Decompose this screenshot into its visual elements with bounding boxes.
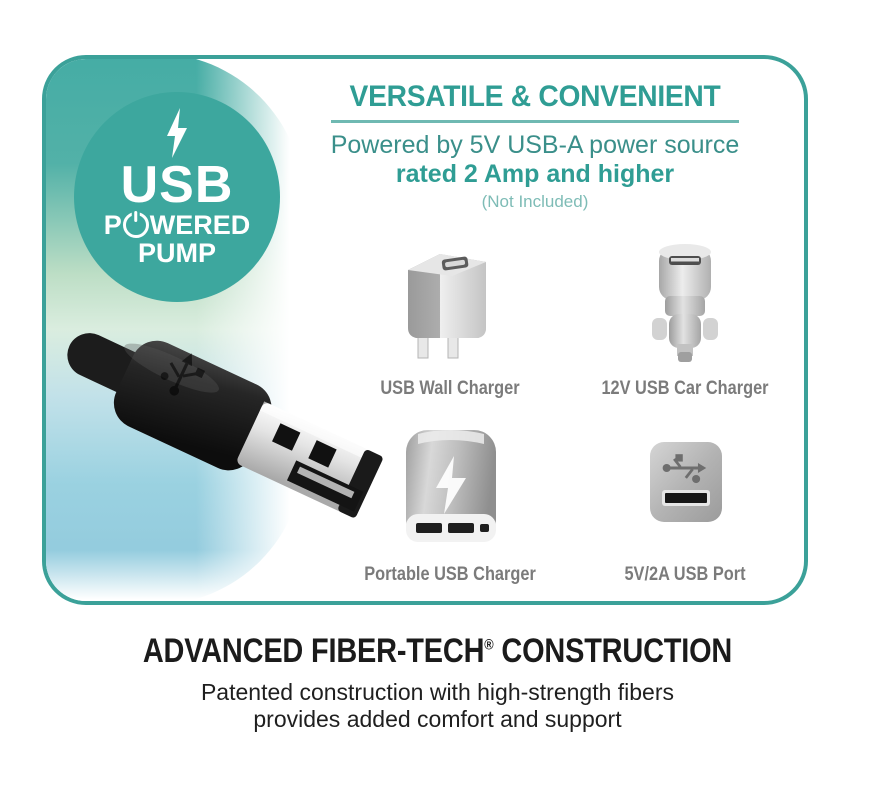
portable-charger-art — [330, 418, 570, 558]
registered-mark: ® — [484, 637, 493, 654]
device-portable-charger: Portable USB Charger — [330, 418, 570, 586]
power-bank-icon — [388, 418, 513, 558]
badge-powered-suffix: WERED — [150, 211, 251, 239]
badge-line-usb: USB — [121, 160, 234, 211]
page-title: VERSATILE & CONVENIENT — [314, 80, 756, 114]
subtitle-line-2: rated 2 Amp and higher — [300, 160, 770, 189]
usb-port-art — [565, 418, 805, 558]
car-charger-icon — [625, 232, 745, 372]
wall-charger-label: USB Wall Charger — [347, 378, 553, 400]
power-symbol-icon — [123, 212, 149, 238]
device-usb-car-charger: 12V USB Car Charger — [565, 232, 805, 400]
infographic-stage: USB P WERED PUMP — [0, 0, 875, 798]
device-usb-port: 5V/2A USB Port — [565, 418, 805, 586]
car-charger-art — [565, 232, 805, 372]
badge-powered-prefix: P — [104, 211, 122, 239]
device-usb-wall-charger: USB Wall Charger — [330, 232, 570, 400]
not-included-note: (Not Included) — [300, 192, 770, 212]
subtitle-line-1: Powered by 5V USB-A power source — [300, 131, 770, 160]
lightning-bolt-icon — [163, 108, 191, 158]
footer-title: ADVANCED FIBER-TECH® CONSTRUCTION — [66, 632, 810, 671]
title-underline — [331, 120, 739, 123]
usb-port-icon — [630, 418, 740, 558]
wall-charger-icon — [390, 232, 510, 372]
car-charger-label: 12V USB Car Charger — [582, 378, 788, 400]
footer-title-tail: CONSTRUCTION — [501, 632, 732, 670]
heading-block: VERSATILE & CONVENIENT Powered by 5V USB… — [300, 80, 770, 212]
footer-body-line-1: Patented construction with high-strength… — [201, 679, 674, 705]
badge-line-pump: PUMP — [138, 239, 216, 269]
usb-port-label: 5V/2A USB Port — [582, 564, 788, 586]
footer-title-main: ADVANCED FIBER-TECH — [143, 632, 484, 670]
wall-charger-art — [330, 232, 570, 372]
footer-block: ADVANCED FIBER-TECH® CONSTRUCTION Patent… — [0, 632, 875, 733]
portable-charger-label: Portable USB Charger — [347, 564, 553, 586]
badge-line-powered: P WERED — [104, 211, 251, 239]
footer-body: Patented construction with high-strength… — [0, 679, 875, 733]
usb-powered-pump-badge: USB P WERED PUMP — [74, 92, 280, 302]
footer-body-line-2: provides added comfort and support — [253, 706, 621, 732]
